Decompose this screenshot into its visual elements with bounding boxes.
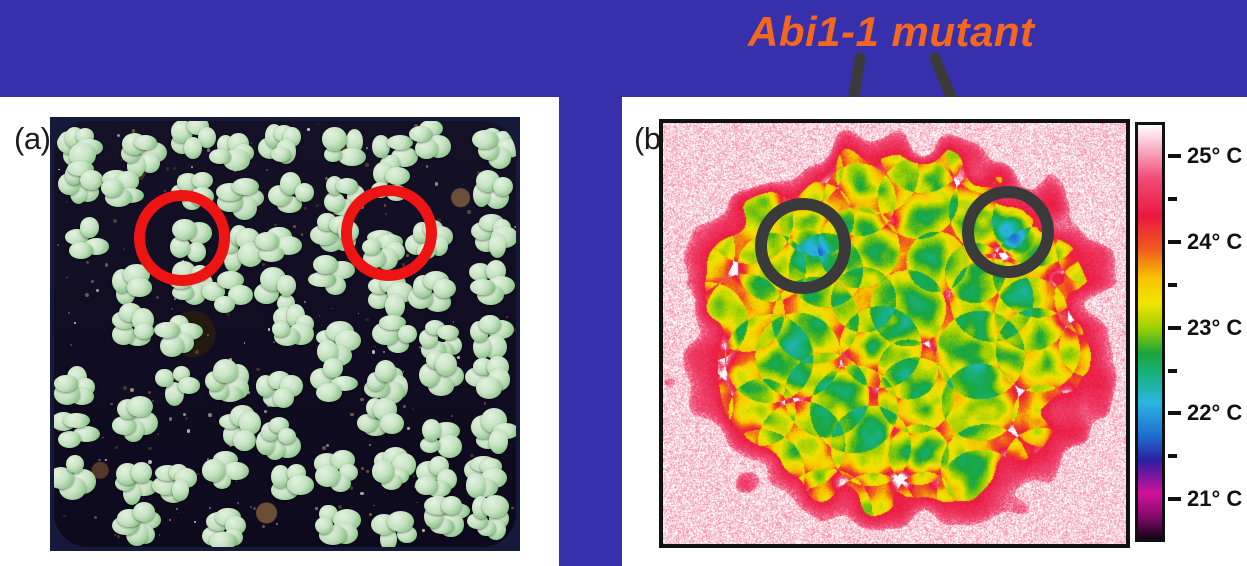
rosette-plant <box>249 219 301 271</box>
rosette-leaf <box>101 179 124 197</box>
slide-canvas: Abi1-1 mutant (a) (b) 25° C24° C23° C22°… <box>0 0 1247 566</box>
rosette-plant <box>307 354 359 406</box>
rosette-leaf <box>472 130 497 149</box>
soil-speck <box>101 438 102 439</box>
soil-speck <box>407 427 409 429</box>
rosette-leaf <box>322 127 346 151</box>
colorbar-tick-minor <box>1168 454 1177 458</box>
rosette-leaf <box>54 375 78 392</box>
rosette-plant <box>464 255 516 307</box>
rosette-leaf <box>232 178 259 195</box>
rosette-leaf <box>213 359 238 383</box>
rosette-leaf <box>209 532 237 547</box>
rosette-plant <box>108 299 160 351</box>
rosette-leaf <box>437 325 459 340</box>
rosette-leaf <box>202 459 225 481</box>
colorbar-tick-label: 25° C <box>1187 143 1242 169</box>
colorbar-tick-major <box>1168 154 1181 158</box>
soil-speck <box>91 280 94 283</box>
rosette-plant <box>200 504 252 547</box>
rosette-plant <box>95 163 147 215</box>
soil-speck <box>194 521 195 522</box>
rosette-plant <box>464 492 516 544</box>
highlight-circle-left-photo <box>134 190 230 286</box>
rosette-leaf <box>127 278 152 296</box>
highlight-circle-right-photo <box>341 185 437 281</box>
thermal-canvas <box>663 123 1126 544</box>
rosette-leaf <box>178 377 201 394</box>
colorbar-tick-label: 23° C <box>1187 315 1242 341</box>
colorbar-tick-major <box>1168 411 1181 415</box>
soil-speck <box>435 182 439 186</box>
soil-speck <box>74 322 76 324</box>
rosette-leaf <box>277 275 297 296</box>
soil-speck <box>307 128 309 130</box>
rosette-plant <box>109 393 161 445</box>
highlight-circle-left-thermal <box>755 198 851 294</box>
rosette-leaf <box>69 242 93 259</box>
soil-speck <box>178 512 179 513</box>
colorbar-tick-label: 22° C <box>1187 400 1242 426</box>
rosette-plant <box>309 500 361 547</box>
soil-speck <box>66 277 67 278</box>
soil-speck <box>104 459 105 460</box>
thermal-pixels <box>663 123 1126 544</box>
rosette-plant <box>368 504 420 547</box>
rosette-leaf <box>287 475 314 494</box>
rosette-plant <box>252 411 304 463</box>
rosette-leaf <box>433 279 456 299</box>
soil-speck <box>176 508 178 510</box>
rosette-leaf <box>155 369 173 388</box>
rosette-plant <box>198 443 250 495</box>
rosette-plant <box>54 404 100 456</box>
soil-speck <box>148 447 152 451</box>
rosette-plant <box>111 498 163 547</box>
rosette-leaf <box>470 279 494 295</box>
rosette-plant <box>416 347 468 399</box>
rosette-plant <box>418 489 470 541</box>
rosette-leaf <box>479 315 501 333</box>
rosette-leaf <box>476 377 503 399</box>
thermal-image <box>659 119 1130 548</box>
rosette-leaf <box>372 135 389 158</box>
soil-speck <box>68 312 70 314</box>
rosette-plant <box>153 309 205 361</box>
soil-speck <box>276 523 278 525</box>
soil-speck <box>116 126 117 127</box>
rosette-plant <box>312 445 364 497</box>
rosette-plant <box>465 164 516 216</box>
rosette-leaf <box>160 335 183 357</box>
colorbar-tick-major <box>1168 326 1181 330</box>
rosette-leaf <box>336 178 359 194</box>
temperature-colorbar: 25° C24° C23° C22° C21° C <box>1135 122 1165 542</box>
rosette-plant <box>54 452 98 504</box>
rosette-leaf <box>214 296 235 313</box>
page-title: Abi1-1 mutant <box>748 8 1035 56</box>
rosette-photograph <box>50 117 520 551</box>
soil-speck <box>169 417 172 420</box>
colorbar-tick-label: 21° C <box>1187 486 1242 512</box>
soil-speck <box>130 388 134 392</box>
rosette-leaf <box>375 360 396 382</box>
rosette-leaf <box>127 396 153 417</box>
rosette-leaf <box>493 177 513 196</box>
colorbar-tick-label: 24° C <box>1187 229 1242 255</box>
colorbar-tick-minor <box>1168 197 1177 201</box>
soil-speck <box>63 515 66 518</box>
soil-speck <box>94 516 97 519</box>
colorbar-gradient <box>1135 122 1165 542</box>
rosette-plant <box>265 168 317 220</box>
rosette-leaf <box>422 419 441 440</box>
colorbar-tick-minor <box>1168 369 1177 373</box>
soil-speck <box>208 413 212 417</box>
rosette-leaf <box>184 137 201 159</box>
rosette-leaf <box>313 255 338 274</box>
soil-speck <box>123 386 126 389</box>
rosette-leaf <box>273 388 294 407</box>
rosette-plant <box>60 214 112 266</box>
rosette-plant <box>255 121 307 170</box>
colorbar-tick-major <box>1168 497 1181 501</box>
rosette-leaf <box>209 149 232 164</box>
rosette-leaf <box>58 431 81 448</box>
soil-speck <box>115 446 118 449</box>
rosette-leaf <box>66 455 84 473</box>
soil-speck <box>96 289 99 292</box>
rosette-leaf <box>172 479 189 501</box>
rosette-leaf <box>134 323 154 338</box>
rosette-leaf <box>80 217 99 238</box>
highlight-circle-right-thermal <box>962 186 1054 278</box>
rosette-plant <box>463 351 515 403</box>
panel-a-label: (a) <box>14 121 50 157</box>
rosette-plant <box>353 393 405 445</box>
rosette-leaf <box>295 183 314 201</box>
soil-speck <box>113 219 117 223</box>
soil-speck <box>412 408 414 410</box>
rosette-leaf <box>489 233 506 257</box>
colorbar-tick-major <box>1168 240 1181 244</box>
rosette-leaf <box>316 383 342 402</box>
rosette-leaf <box>112 416 136 434</box>
colorbar-tick-minor <box>1168 283 1177 287</box>
soil-speck <box>207 334 208 335</box>
soil-speck <box>358 313 359 314</box>
rosette-leaf <box>255 232 278 250</box>
rosette-leaf <box>272 321 290 336</box>
rosette-leaf <box>385 167 410 185</box>
rosette-leaf <box>315 465 340 487</box>
rosette-leaf <box>372 460 395 483</box>
plant-tray <box>54 121 516 547</box>
rosette-leaf <box>409 126 432 142</box>
rosette-leaf <box>323 358 342 378</box>
rosette-leaf <box>380 413 404 434</box>
